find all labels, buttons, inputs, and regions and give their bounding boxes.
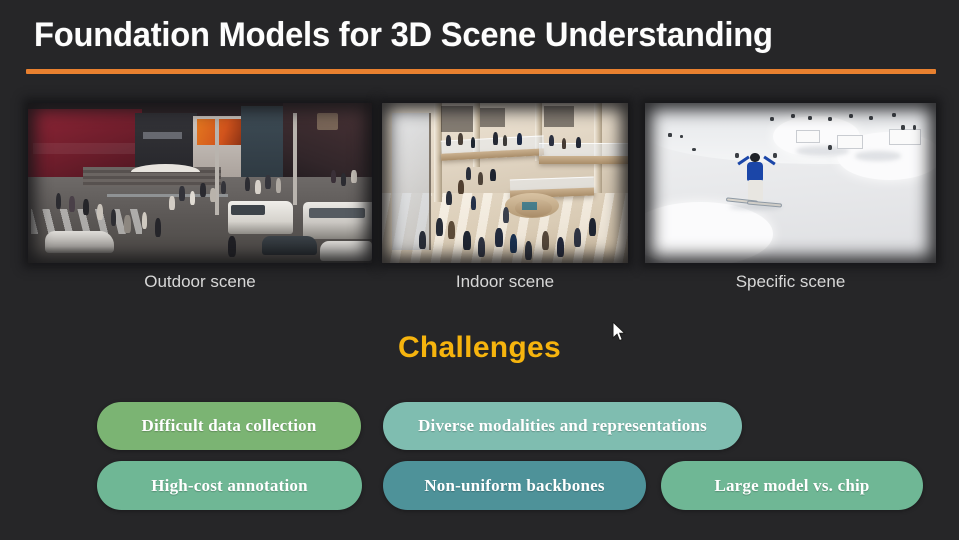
outdoor-scene-caption: Outdoor scene <box>28 272 372 292</box>
specific-scene-image[interactable] <box>645 103 936 263</box>
challenge-pill-non-uniform-backbones[interactable]: Non-uniform backbones <box>383 461 646 510</box>
challenges-heading: Challenges <box>0 331 959 365</box>
challenge-pill-difficult-data-collection[interactable]: Difficult data collection <box>97 402 361 450</box>
challenge-pill-high-cost-annotation[interactable]: High-cost annotation <box>97 461 362 510</box>
outdoor-scene-image[interactable] <box>28 103 372 263</box>
specific-scene-caption: Specific scene <box>645 272 936 292</box>
challenge-pill-large-model-vs-chip[interactable]: Large model vs. chip <box>661 461 923 510</box>
scene-thumbnail-row: Outdoor scene Indoor scene Specific scen… <box>0 0 959 300</box>
indoor-scene-image[interactable] <box>382 103 628 263</box>
indoor-scene-caption: Indoor scene <box>382 272 628 292</box>
challenge-pill-diverse-modalities[interactable]: Diverse modalities and representations <box>383 402 742 450</box>
